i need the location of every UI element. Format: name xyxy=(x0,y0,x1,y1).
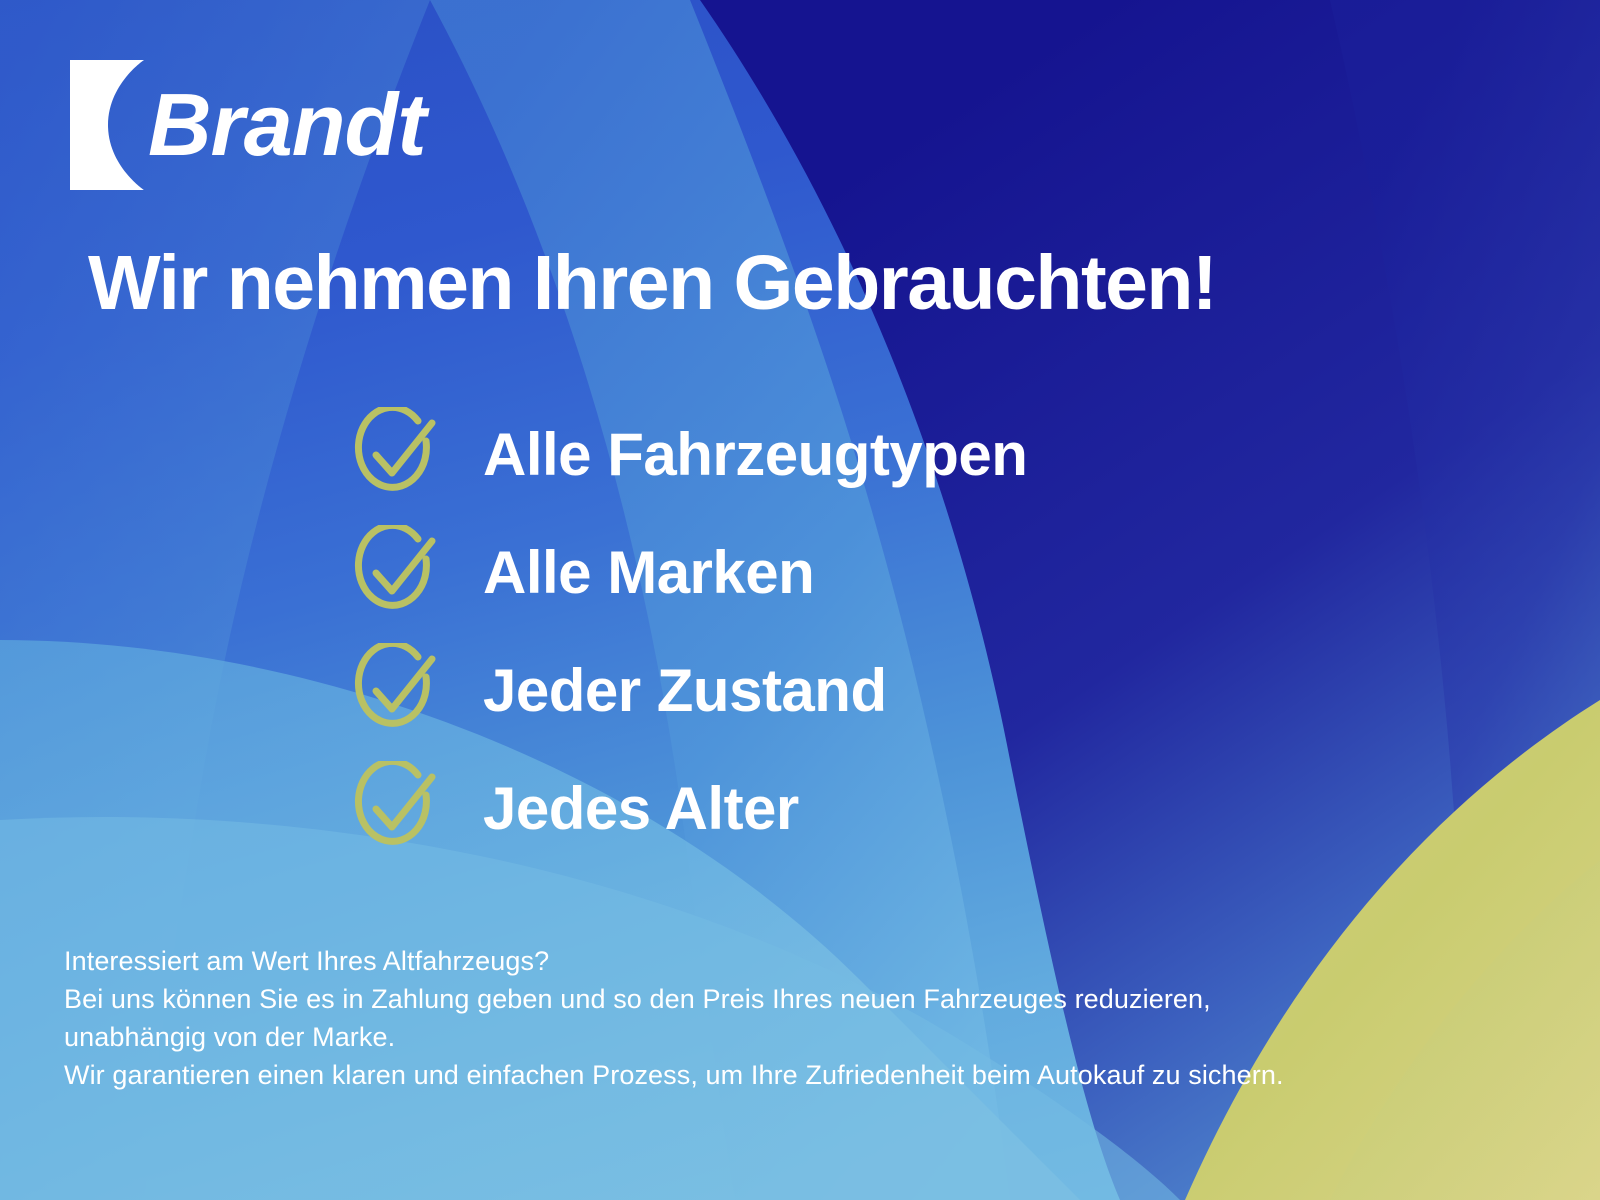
list-item: Jedes Alter xyxy=(352,750,1027,868)
paragraph-line-4: Wir garantieren einen klaren und einfach… xyxy=(64,1056,1284,1094)
feature-list: Alle Fahrzeugtypen Alle Marken xyxy=(352,396,1027,868)
feature-label: Jedes Alter xyxy=(483,779,799,839)
paragraph-line-1: Interessiert am Wert Ihres Altfahrzeugs? xyxy=(64,942,1284,980)
check-circle-icon xyxy=(352,525,440,621)
feature-label: Alle Marken xyxy=(483,543,814,603)
check-circle-icon xyxy=(352,407,440,503)
feature-label: Alle Fahrzeugtypen xyxy=(483,425,1027,485)
list-item: Jeder Zustand xyxy=(352,632,1027,750)
brand-name: Brandt xyxy=(148,81,426,169)
check-circle-icon xyxy=(352,643,440,739)
page-title: Wir nehmen Ihren Gebrauchten! xyxy=(88,243,1216,324)
promo-banner: Brandt Wir nehmen Ihren Gebrauchten! All… xyxy=(0,0,1600,1200)
list-item: Alle Fahrzeugtypen xyxy=(352,396,1027,514)
check-circle-icon xyxy=(352,761,440,857)
list-item: Alle Marken xyxy=(352,514,1027,632)
brand-logo: Brandt xyxy=(70,52,426,198)
feature-label: Jeder Zustand xyxy=(483,661,887,721)
banner-content: Brandt Wir nehmen Ihren Gebrauchten! All… xyxy=(0,0,1600,1200)
paragraph-line-2: Bei uns können Sie es in Zahlung geben u… xyxy=(64,980,1284,1018)
brandt-bracket-icon xyxy=(70,60,144,190)
description-paragraph: Interessiert am Wert Ihres Altfahrzeugs?… xyxy=(64,942,1284,1094)
paragraph-line-3: unabhängig von der Marke. xyxy=(64,1018,1284,1056)
